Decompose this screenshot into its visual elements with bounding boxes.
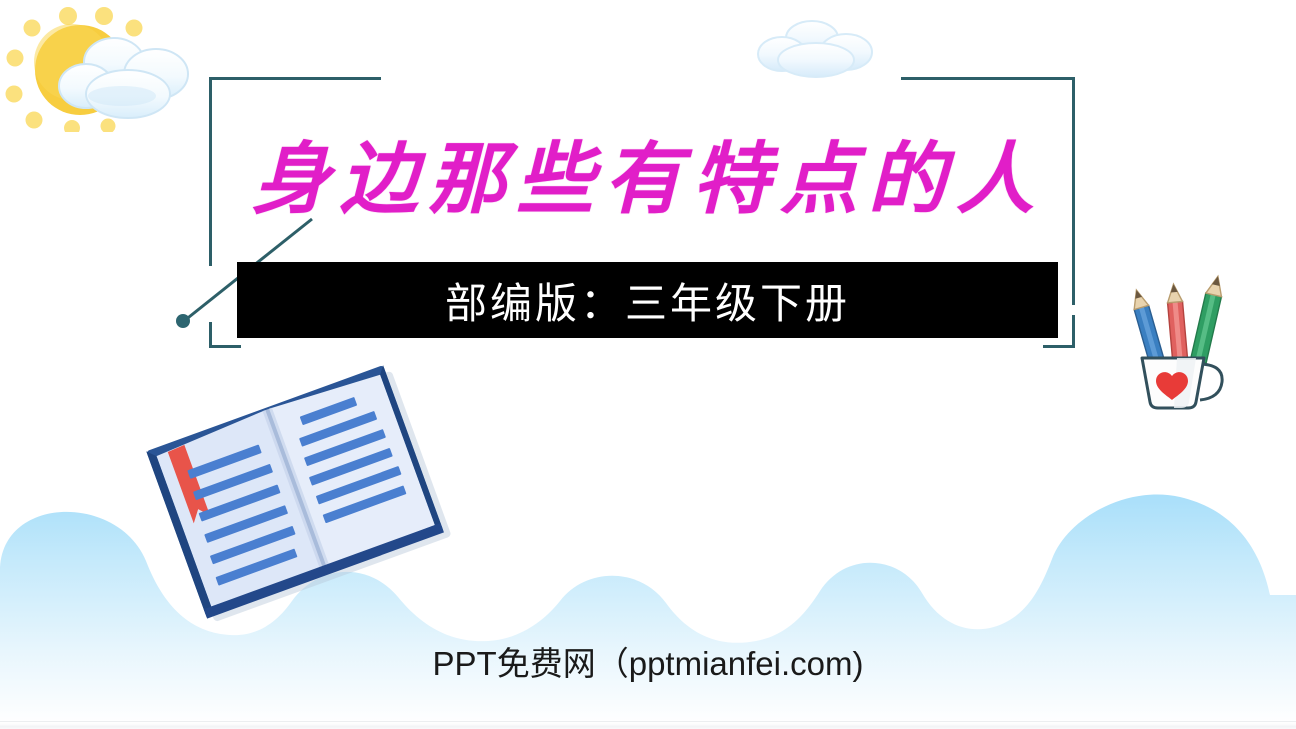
frame-top-right-segment: [901, 77, 1075, 80]
slide-bottom-edge: [0, 721, 1296, 729]
slide-canvas: 身边那些有特点的人 部编版：三年级下册: [0, 0, 1296, 729]
pencil-cup-icon: [1122, 272, 1242, 412]
frame-bottom-right-vertical: [1072, 315, 1075, 348]
frame-bottom-right-horizontal: [1043, 345, 1075, 348]
page-title: 身边那些有特点的人: [0, 136, 1296, 223]
open-book-icon: [128, 344, 468, 644]
cloud-icon: [52, 28, 212, 128]
cloud-icon: [748, 12, 888, 84]
subtitle-banner-text: 部编版：三年级下册: [445, 270, 850, 331]
footer-watermark: PPT免费网（pptmianfei.com): [0, 637, 1296, 685]
frame-top-left-segment: [209, 77, 381, 80]
subtitle-banner: 部编版：三年级下册: [237, 262, 1058, 338]
